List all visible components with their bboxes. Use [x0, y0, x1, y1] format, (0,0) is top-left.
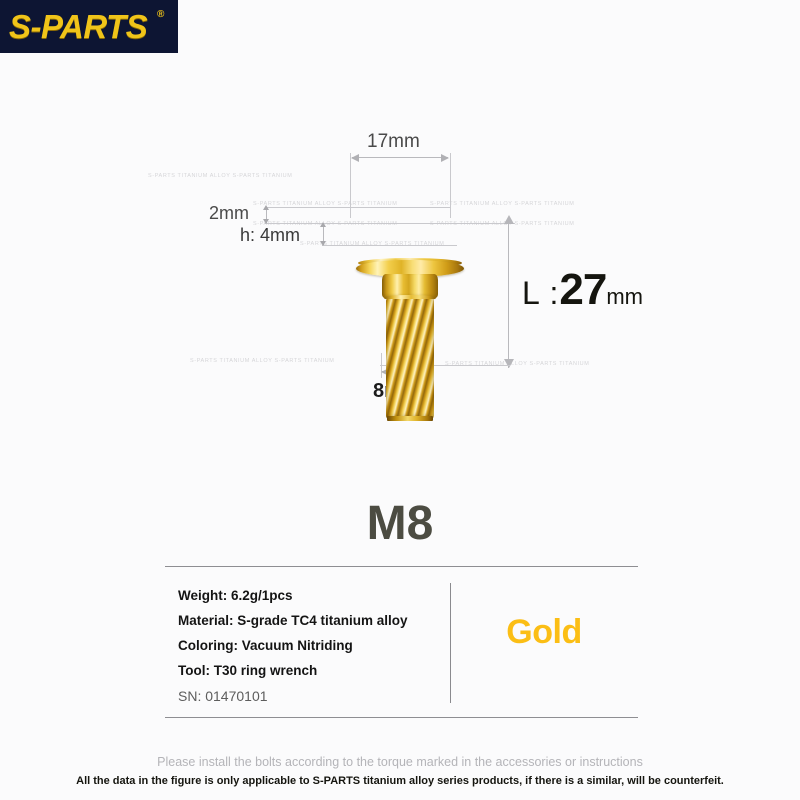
dimension-line-length	[508, 219, 509, 368]
brand-logo-text: S-PARTS	[9, 6, 147, 47]
spec-row-tool: Tool: T30 ring wrench	[178, 658, 438, 683]
arrow-down-length	[504, 359, 514, 368]
spec-row-material: Material: S-grade TC4 titanium alloy	[178, 608, 438, 633]
arrow-up-length	[504, 215, 514, 224]
product-color-name: Gold	[450, 613, 638, 652]
bolt-threaded-shank	[386, 299, 434, 419]
brand-logo-banner: S-PARTS ®	[0, 0, 178, 53]
footer-install-note: Please install the bolts according to th…	[0, 755, 800, 769]
product-size-title: M8	[0, 496, 800, 551]
bolt-tip-face	[387, 416, 433, 421]
arrow-left-17mm	[351, 154, 359, 162]
product-dimension-diagram: S-PARTS TITANIUM ALLOY S-PARTS TITANIUM …	[0, 53, 800, 473]
arrow-down-2mm	[263, 219, 269, 224]
titanium-flange-bolt-image	[355, 203, 465, 423]
watermark-text: S-PARTS TITANIUM ALLOY S-PARTS TITANIUM	[445, 361, 589, 367]
specification-list: Weight: 6.2g/1pcs Material: S-grade TC4 …	[178, 583, 438, 709]
spec-row-coloring: Coloring: Vacuum Nitriding	[178, 633, 438, 658]
spec-row-serial-number: SN: 01470101	[178, 683, 438, 709]
dimension-label-head-diameter: 17mm	[367, 131, 420, 153]
dimension-label-length: L :27mm	[522, 265, 643, 315]
watermark-text: S-PARTS TITANIUM ALLOY S-PARTS TITANIUM	[148, 173, 292, 179]
watermark-text: S-PARTS TITANIUM ALLOY S-PARTS TITANIUM	[190, 358, 334, 364]
length-prefix: L :	[522, 275, 559, 311]
arrow-right-17mm	[441, 154, 449, 162]
spec-divider-bottom	[165, 717, 638, 718]
length-unit: mm	[606, 284, 643, 309]
arrow-down-4mm	[320, 241, 326, 246]
dimension-line-17mm	[352, 157, 448, 158]
dimension-label-flange-thickness: 2mm	[209, 203, 249, 224]
arrow-up-2mm	[263, 205, 269, 210]
extension-line-17mm-left	[350, 153, 351, 218]
arrow-up-4mm	[320, 222, 326, 227]
dimension-label-head-height: h: 4mm	[240, 225, 300, 246]
spec-divider-top	[165, 566, 638, 567]
footer-disclaimer-note: All the data in the figure is only appli…	[0, 775, 800, 787]
spec-row-weight: Weight: 6.2g/1pcs	[178, 583, 438, 608]
registered-trademark-icon: ®	[157, 9, 164, 20]
length-value: 27	[559, 265, 606, 314]
